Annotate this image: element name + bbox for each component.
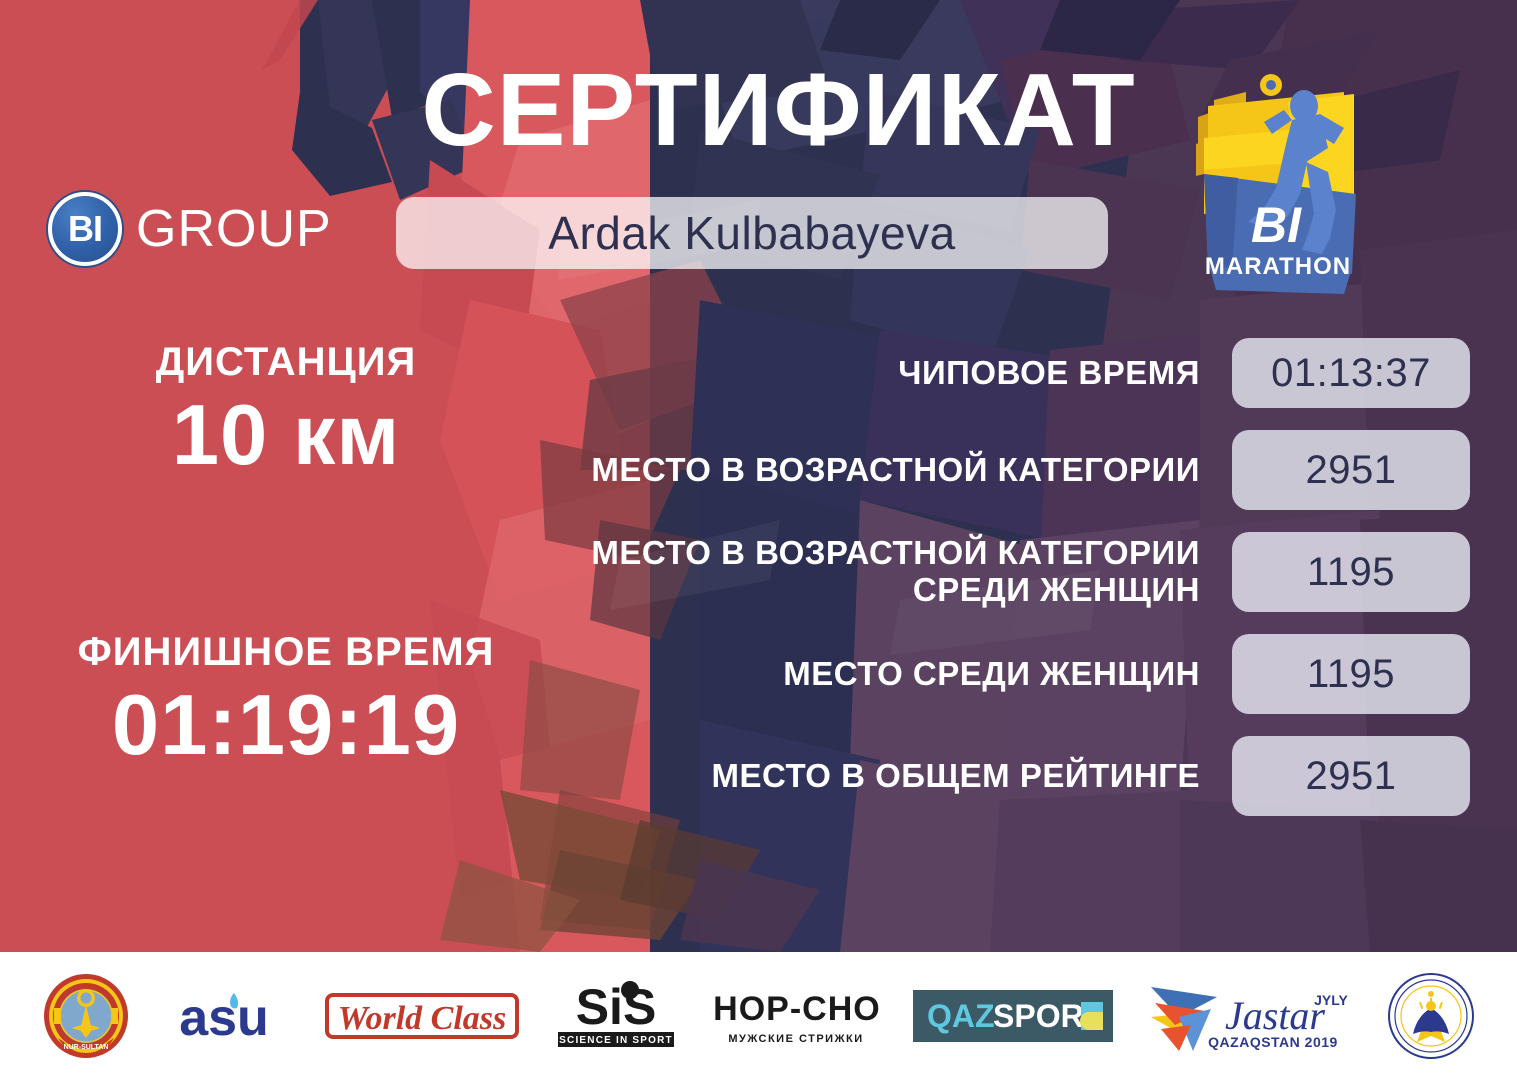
bi-group-logo: BI GROUP <box>48 192 332 266</box>
distance-value: 10 км <box>56 389 516 483</box>
badge-bi-text: BI <box>1251 197 1302 253</box>
bi-group-word: GROUP <box>136 203 332 255</box>
stat-value: 1195 <box>1307 652 1395 697</box>
sis-text: SiS <box>575 979 656 1035</box>
sponsor-qazsport: QAZ SPORT <box>913 966 1113 1066</box>
stat-row: МЕСТО В ОБЩЕМ РЕЙТИНГЕ 2951 <box>520 736 1470 816</box>
participant-name: Ardak Kulbabayeva <box>548 206 955 260</box>
stat-row: МЕСТО В ВОЗРАСТНОЙ КАТЕГОРИИ СРЕДИ ЖЕНЩИ… <box>520 532 1470 612</box>
finish-time-value: 01:19:19 <box>56 679 516 773</box>
stat-value-pill: 01:13:37 <box>1232 338 1470 408</box>
stat-row: МЕСТО СРЕДИ ЖЕНЩИН 1195 <box>520 634 1470 714</box>
nur-sultan-text: NUR-SULTAN <box>64 1044 109 1051</box>
stat-value-pill: 1195 <box>1232 532 1470 612</box>
left-stats-column: ДИСТАНЦИЯ 10 км ФИНИШНОЕ ВРЕМЯ 01:19:19 <box>56 340 516 773</box>
stat-label: МЕСТО В ВОЗРАСТНОЙ КАТЕГОРИИ СРЕДИ ЖЕНЩИ… <box>520 535 1232 609</box>
sponsor-sis: SiS SCIENCE IN SPORT <box>552 966 680 1066</box>
sponsor-chop-chop: CHOP-CHOP МУЖСКИЕ СТРИЖКИ <box>711 966 881 1066</box>
stat-row: МЕСТО В ВОЗРАСТНОЙ КАТЕГОРИИ 2951 <box>520 430 1470 510</box>
stat-value: 1195 <box>1307 550 1395 595</box>
jastar-sup-text: JYLY <box>1314 992 1348 1008</box>
sponsor-world-class: World Class <box>324 966 520 1066</box>
stat-value: 01:13:37 <box>1271 351 1431 396</box>
bi-circle-icon: BI <box>48 192 122 266</box>
certificate: СЕРТИФИКАТ BI GROUP Ardak Kulbabayeva <box>0 0 1517 1080</box>
world-class-text: World Class <box>337 1000 505 1037</box>
stat-row: ЧИПОВОЕ ВРЕМЯ 01:13:37 <box>520 338 1470 408</box>
sis-sub-text: SCIENCE IN SPORT <box>559 1035 673 1046</box>
stat-value: 2951 <box>1306 448 1397 493</box>
bi-mark-text: BI <box>68 211 102 247</box>
participant-name-banner: Ardak Kulbabayeva <box>396 197 1108 269</box>
jastar-sub-text: QAZAQSTAN 2019 <box>1208 1034 1338 1050</box>
bi-marathon-badge: BI MARATHON <box>1168 62 1388 307</box>
stat-label: ЧИПОВОЕ ВРЕМЯ <box>520 355 1232 392</box>
jastar-text: Jastar <box>1225 993 1325 1038</box>
stat-value-pill: 2951 <box>1232 430 1470 510</box>
qazsport-qaz-text: QAZ <box>927 998 995 1034</box>
chop-chop-sub-text: МУЖСКИЕ СТРИЖКИ <box>729 1033 864 1045</box>
stat-value: 2951 <box>1306 754 1397 799</box>
stat-label: МЕСТО В ВОЗРАСТНОЙ КАТЕГОРИИ <box>520 452 1232 489</box>
chop-chop-text: CHOP-CHOP <box>711 990 881 1028</box>
stat-label: МЕСТО В ОБЩЕМ РЕЙТИНГЕ <box>520 758 1232 795</box>
sponsor-nur-sultan: NUR-SULTAN <box>42 966 130 1066</box>
finish-time-label: ФИНИШНОЕ ВРЕМЯ <box>56 630 516 675</box>
sponsor-bar: NUR-SULTAN asu World Class SiS SCIENCE I… <box>0 952 1517 1080</box>
right-stats-column: ЧИПОВОЕ ВРЕМЯ 01:13:37 МЕСТО В ВОЗРАСТНО… <box>520 338 1470 838</box>
sponsor-jastar-jyly: Jastar JYLY QAZAQSTAN 2019 <box>1145 966 1355 1066</box>
stat-label: МЕСТО СРЕДИ ЖЕНЩИН <box>520 656 1232 693</box>
stat-value-pill: 2951 <box>1232 736 1470 816</box>
badge-marathon-text: MARATHON <box>1205 253 1351 280</box>
distance-block: ДИСТАНЦИЯ 10 км <box>56 340 516 482</box>
distance-label: ДИСТАНЦИЯ <box>56 340 516 385</box>
finish-time-block: ФИНИШНОЕ ВРЕМЯ 01:19:19 <box>56 630 516 772</box>
sponsor-asu: asu <box>162 966 292 1066</box>
sponsor-ministry-seal <box>1387 966 1475 1066</box>
stat-value-pill: 1195 <box>1232 634 1470 714</box>
asu-text: asu <box>179 989 269 1047</box>
